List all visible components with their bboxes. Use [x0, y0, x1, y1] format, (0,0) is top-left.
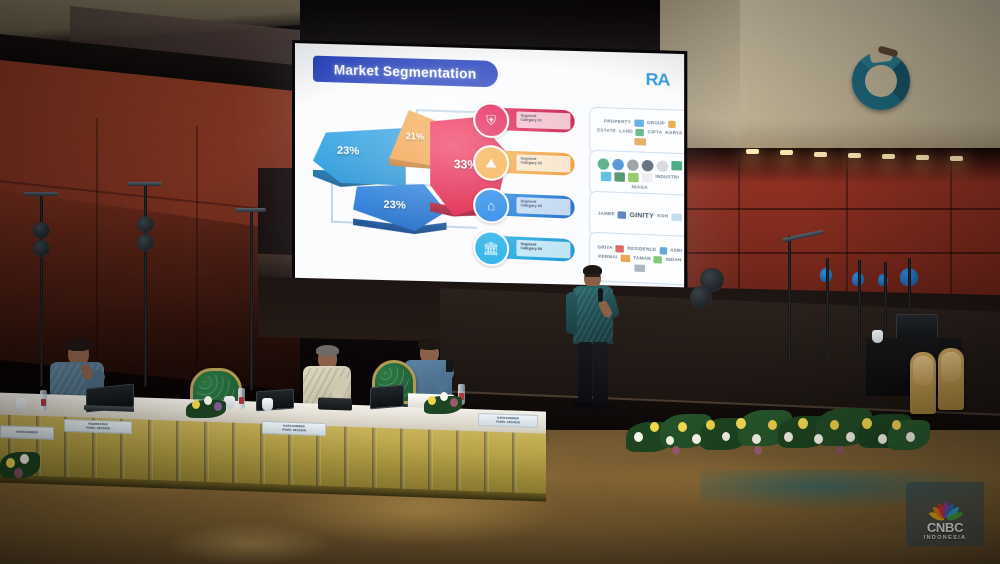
building-icon: ⛨ — [473, 102, 509, 139]
par-light-icon — [137, 216, 154, 233]
flower-arrangement — [0, 436, 56, 486]
table-flower-vase — [424, 388, 464, 412]
legend-row: SegmentCategory 04 🏛 — [473, 229, 589, 273]
panelist-hair — [418, 338, 441, 350]
landmark-icon: 🏛 — [473, 230, 509, 267]
cup — [872, 330, 883, 343]
truss-bar — [128, 182, 162, 186]
pie-label-light-blue: 23% — [337, 145, 359, 158]
pie-label-dark-blue: 23% — [383, 199, 405, 212]
glasses-icon — [585, 274, 600, 277]
downlight-icon — [882, 154, 895, 159]
brand-logo-card: GRIYA RESIDENCE ASRI PERMAI TAMAN INDAH — [589, 232, 684, 286]
par-light-icon — [690, 286, 712, 308]
wall-seam — [658, 252, 1000, 254]
truss-bar — [236, 208, 266, 212]
flower-arrangement — [626, 392, 926, 470]
houses-icon: ⌂ — [473, 187, 509, 224]
mic-stand — [788, 236, 791, 360]
conference-hall-photo: Market Segmentation RA 23% 21% — [0, 0, 1000, 564]
water-bottle — [238, 388, 245, 409]
projection-screen: Market Segmentation RA 23% 21% — [292, 40, 687, 311]
downlight-icon — [746, 149, 759, 154]
par-light-icon — [137, 234, 154, 251]
microphone-icon — [598, 288, 603, 302]
slide-legend: SegmentCategory 01 ⛨ SegmentCategory 02 … — [473, 101, 589, 277]
factory-icon: ⛰ — [473, 145, 509, 182]
speaker-left-shoe — [572, 402, 594, 409]
legend-row: SegmentCategory 01 ⛨ — [473, 101, 589, 144]
truss-bar — [24, 192, 58, 196]
legend-row: SegmentCategory 02 ⛰ — [473, 144, 589, 187]
par-light-icon — [33, 222, 50, 239]
bag — [318, 397, 352, 410]
downlight-icon — [780, 150, 793, 155]
light-stand — [250, 212, 253, 390]
nameplate: NARASUMBERPANEL SESSION — [262, 421, 326, 436]
smartphone — [446, 360, 453, 372]
watermark-subtitle: INDONESIA — [924, 535, 967, 541]
wall-seam — [658, 208, 1000, 210]
downlight-icon — [848, 153, 861, 158]
panelist-hair — [316, 345, 339, 356]
downlight-icon — [814, 152, 827, 157]
pie-label-orange: 21% — [406, 131, 424, 142]
speaker-left-arm — [566, 292, 577, 334]
par-light-icon — [33, 240, 50, 257]
peacock-logo-icon — [928, 489, 962, 520]
projected-slide: Market Segmentation RA 23% 21% — [295, 43, 684, 304]
wall-ornament-icon — [852, 52, 910, 110]
presenter-brand-logo: RA — [645, 69, 669, 90]
nameplate: NARASUMBERPANEL SESSION — [478, 413, 538, 428]
legend-row: SegmentCategory 03 ⌂ — [473, 186, 589, 229]
water-bottle — [40, 390, 47, 411]
downlight-icon — [916, 155, 929, 160]
downlight-icon — [950, 156, 963, 161]
speaker-right-leg — [593, 342, 608, 406]
banquet-chair — [938, 348, 964, 410]
nameplate: MODERATORPANEL SESSION — [64, 419, 132, 434]
speaker-left-leg — [578, 342, 592, 406]
speaker-right-shoe — [592, 404, 614, 411]
right-wall-shadow — [658, 148, 1000, 182]
glass — [262, 398, 273, 411]
table-flower-vase — [186, 392, 228, 416]
mic-stand — [858, 260, 861, 362]
mic-stand — [826, 258, 829, 362]
panelist-hair — [66, 338, 91, 351]
glass — [16, 398, 27, 411]
laptop-screen — [370, 385, 404, 410]
watermark-name: CNBC — [927, 521, 963, 534]
slide-title: Market Segmentation — [313, 56, 498, 88]
watermark: CNBC INDONESIA — [906, 482, 984, 546]
